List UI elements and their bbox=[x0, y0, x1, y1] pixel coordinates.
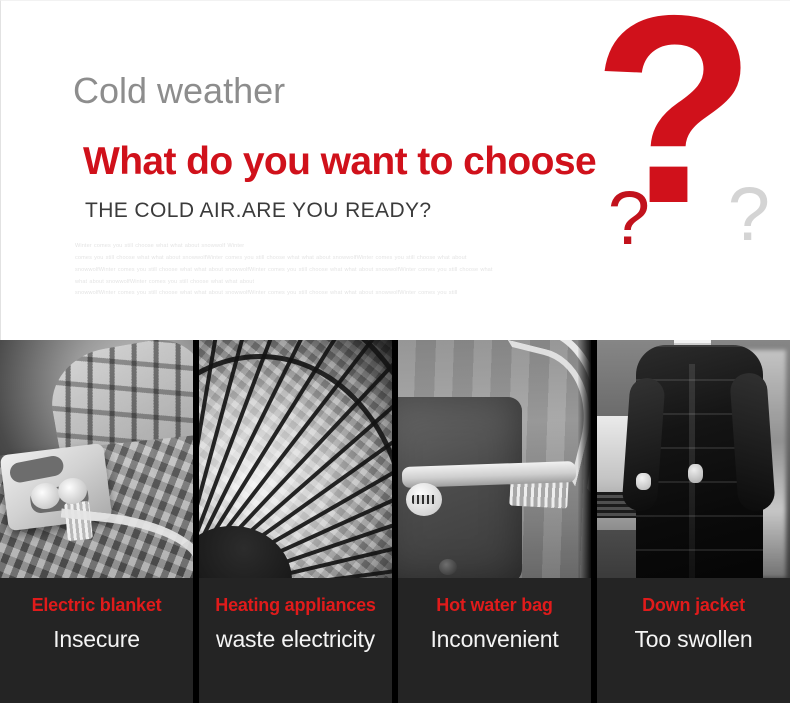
blurb-line: snowwolfWinter comes you still choose wh… bbox=[75, 265, 575, 277]
panel-caption: Heating appliances waste electricity bbox=[199, 578, 392, 703]
hot-water-bag-photo bbox=[398, 340, 591, 578]
panel-subtitle: Inconvenient bbox=[430, 628, 558, 651]
panel-subtitle: Insecure bbox=[53, 628, 140, 651]
panel-title: Electric blanket bbox=[32, 596, 162, 614]
small-gray-question-mark-icon: ? bbox=[728, 177, 770, 253]
blurb-line: Winter comes you still choose what what … bbox=[75, 241, 575, 253]
panel-hot-water-bag[interactable]: Hot water bag Inconvenient bbox=[398, 340, 591, 703]
panel-title: Hot water bag bbox=[436, 596, 552, 614]
hero-text-block: Cold weather What do you want to choose … bbox=[73, 71, 633, 300]
down-jacket-person-photo bbox=[597, 340, 790, 578]
panel-electric-blanket[interactable]: Electric blanket Insecure bbox=[0, 340, 193, 703]
hero-blurb: Winter comes you still choose what what … bbox=[75, 241, 575, 300]
blurb-line: what about snowwolfWinter comes you stil… bbox=[75, 277, 575, 289]
blurb-line: snowwolfWinter comes you still choose wh… bbox=[75, 288, 575, 300]
heater-fan-grille-photo bbox=[199, 340, 392, 578]
promo-page: ? ? ? Cold weather What do you want to c… bbox=[0, 0, 790, 703]
panel-subtitle: Too swollen bbox=[635, 628, 753, 651]
panel-caption: Hot water bag Inconvenient bbox=[398, 578, 591, 703]
panel-caption: Electric blanket Insecure bbox=[0, 578, 193, 703]
panel-caption: Down jacket Too swollen bbox=[597, 578, 790, 703]
hero-headline: What do you want to choose bbox=[83, 141, 633, 184]
panel-down-jacket[interactable]: Down jacket Too swollen bbox=[597, 340, 790, 703]
product-panel-grid: Electric blanket Insecure Heating applia… bbox=[0, 340, 790, 703]
hero-subtitle: Cold weather bbox=[73, 71, 633, 111]
panel-subtitle: waste electricity bbox=[216, 628, 375, 651]
blurb-line: comes you still choose what what about s… bbox=[75, 253, 575, 265]
panel-title: Down jacket bbox=[642, 596, 745, 614]
hero-header: ? ? ? Cold weather What do you want to c… bbox=[0, 0, 790, 340]
electric-blanket-controller-photo bbox=[0, 340, 193, 578]
hero-tagline: THE COLD AIR.ARE YOU READY? bbox=[85, 199, 633, 223]
panel-heating-appliances[interactable]: Heating appliances waste electricity bbox=[199, 340, 392, 703]
panel-title: Heating appliances bbox=[215, 596, 375, 614]
